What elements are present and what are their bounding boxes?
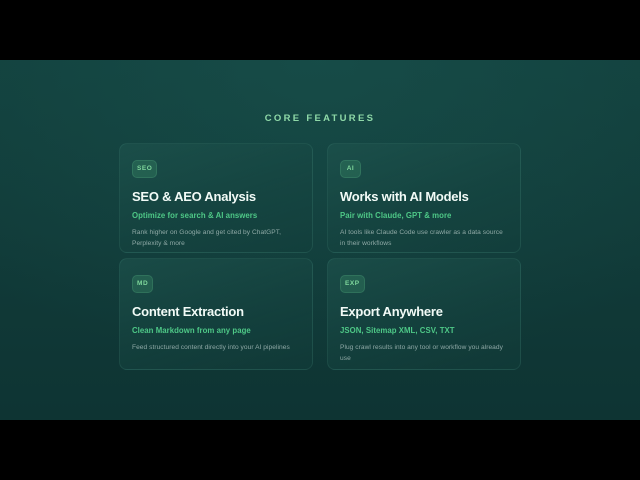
feature-subtitle: Pair with Claude, GPT & more bbox=[340, 211, 508, 221]
feature-body: AI tools like Claude Code use crawler as… bbox=[340, 228, 508, 249]
badge-exp: EXP bbox=[340, 275, 365, 293]
badge-seo: SEO bbox=[132, 160, 157, 178]
feature-card-grid: SEO SEO & AEO Analysis Optimize for sear… bbox=[119, 143, 521, 368]
feature-subtitle: JSON, Sitemap XML, CSV, TXT bbox=[340, 326, 508, 336]
feature-card-export-anywhere[interactable]: EXP Export Anywhere JSON, Sitemap XML, C… bbox=[327, 258, 521, 370]
feature-card-works-with-ai-models[interactable]: AI Works with AI Models Pair with Claude… bbox=[327, 143, 521, 253]
feature-title: Export Anywhere bbox=[340, 304, 508, 319]
letterbox-top bbox=[0, 0, 640, 60]
feature-title: Content Extraction bbox=[132, 304, 300, 319]
feature-subtitle: Clean Markdown from any page bbox=[132, 326, 300, 336]
feature-card-seo-aeo-analysis[interactable]: SEO SEO & AEO Analysis Optimize for sear… bbox=[119, 143, 313, 253]
badge-md: MD bbox=[132, 275, 153, 293]
screenshot-viewport: CORE FEATURES SEO SEO & AEO Analysis Opt… bbox=[0, 0, 640, 480]
letterbox-bottom bbox=[0, 420, 640, 480]
section-eyebrow-heading: CORE FEATURES bbox=[0, 113, 640, 125]
badge-ai: AI bbox=[340, 160, 361, 178]
feature-title: SEO & AEO Analysis bbox=[132, 189, 300, 204]
feature-subtitle: Optimize for search & AI answers bbox=[132, 211, 300, 221]
feature-body: Plug crawl results into any tool or work… bbox=[340, 343, 508, 364]
feature-body: Feed structured content directly into yo… bbox=[132, 343, 300, 354]
feature-body: Rank higher on Google and get cited by C… bbox=[132, 228, 300, 249]
feature-card-content-extraction[interactable]: MD Content Extraction Clean Markdown fro… bbox=[119, 258, 313, 370]
feature-title: Works with AI Models bbox=[340, 189, 508, 204]
core-features-section: CORE FEATURES SEO SEO & AEO Analysis Opt… bbox=[0, 60, 640, 420]
